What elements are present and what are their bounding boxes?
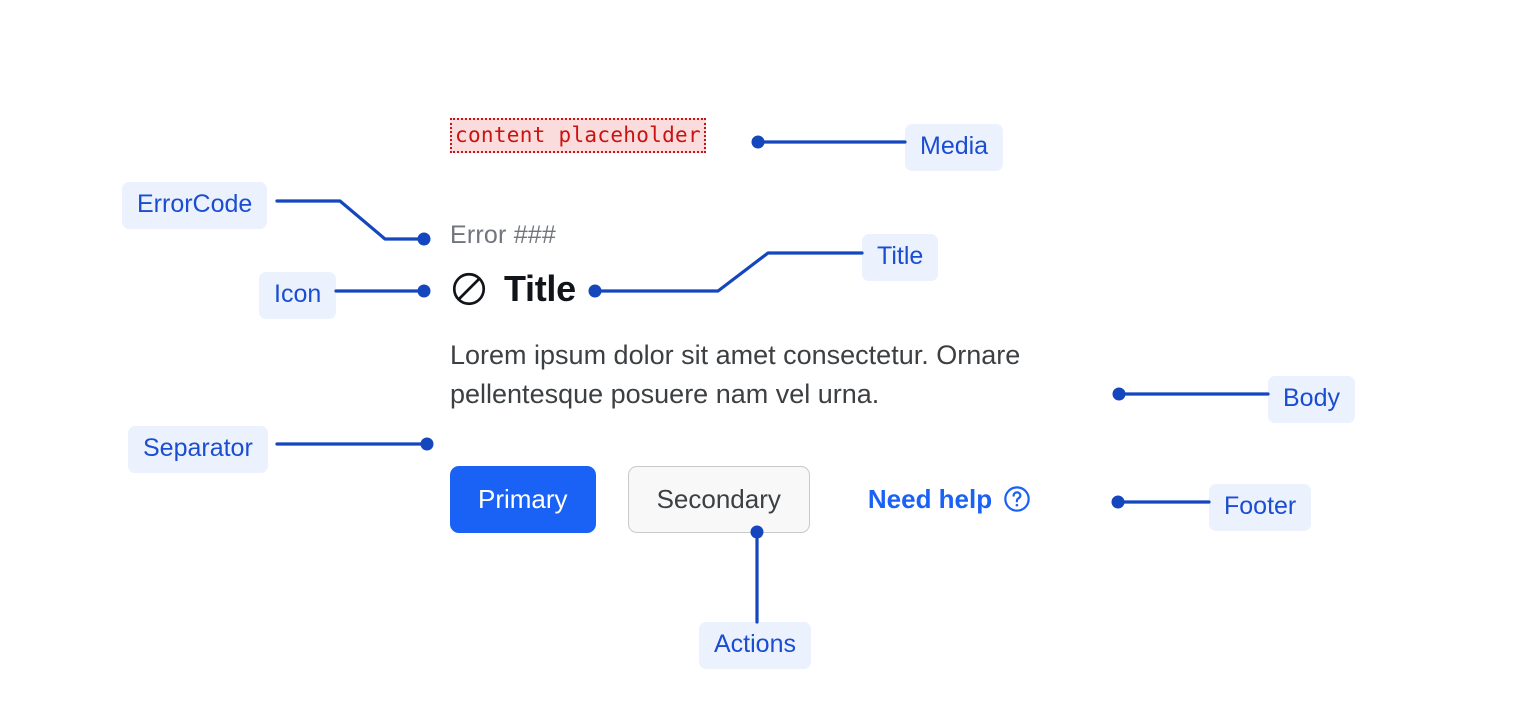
connector-dot-footer — [1112, 496, 1125, 509]
component-title: Title — [504, 271, 576, 307]
title-row: Title — [450, 270, 1110, 308]
secondary-button[interactable]: Secondary — [628, 466, 810, 533]
callout-body[interactable]: Body — [1268, 376, 1355, 423]
callout-icon[interactable]: Icon — [259, 272, 336, 319]
prohibited-icon — [450, 270, 488, 308]
callout-actions[interactable]: Actions — [699, 622, 811, 669]
error-state-component: content placeholder Error ### Title Lore… — [450, 118, 1110, 533]
callout-media[interactable]: Media — [905, 124, 1003, 171]
help-circle-icon — [1003, 485, 1031, 513]
connector-dot-separator — [421, 438, 434, 451]
callout-errorcode[interactable]: ErrorCode — [122, 182, 267, 229]
callout-footer[interactable]: Footer — [1209, 484, 1311, 531]
connector-dot-body — [1113, 388, 1126, 401]
connector-dot-icon — [418, 285, 431, 298]
media-content-placeholder: content placeholder — [450, 118, 706, 153]
connector-errorcode — [277, 201, 421, 239]
callout-separator[interactable]: Separator — [128, 426, 268, 473]
separator-rule — [450, 447, 1050, 448]
callout-title[interactable]: Title — [862, 234, 938, 281]
need-help-label: Need help — [868, 486, 992, 512]
connector-dot-errorcode — [418, 233, 431, 246]
primary-button[interactable]: Primary — [450, 466, 596, 533]
need-help-link[interactable]: Need help — [868, 485, 1031, 513]
component-body-text: Lorem ipsum dolor sit amet consectetur. … — [450, 336, 1090, 414]
actions-row: Primary Secondary Need help — [450, 466, 1110, 533]
error-code-text: Error ### — [450, 223, 1110, 248]
